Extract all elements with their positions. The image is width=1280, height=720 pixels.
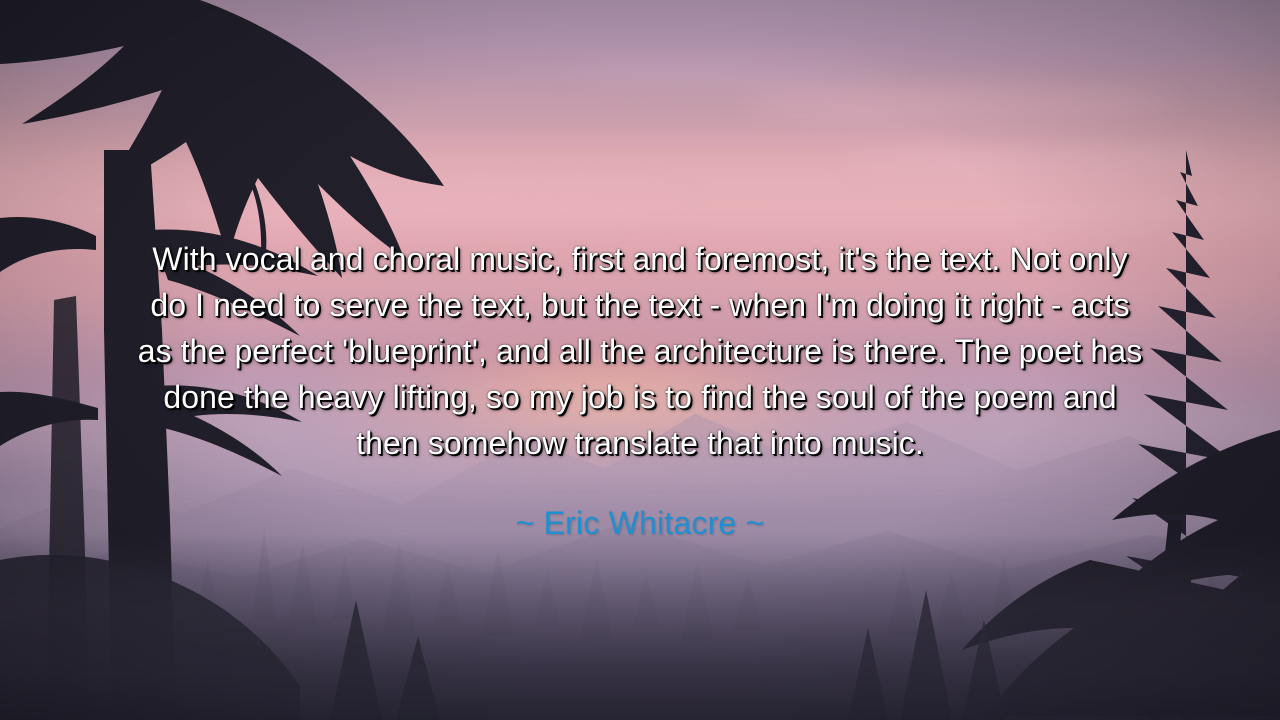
quote-block: With vocal and choral music, first and f… [0, 236, 1280, 542]
quote-attribution: ~ Eric Whitacre ~ [60, 504, 1220, 542]
quote-text: With vocal and choral music, first and f… [130, 236, 1150, 466]
quote-card: With vocal and choral music, first and f… [0, 0, 1280, 720]
